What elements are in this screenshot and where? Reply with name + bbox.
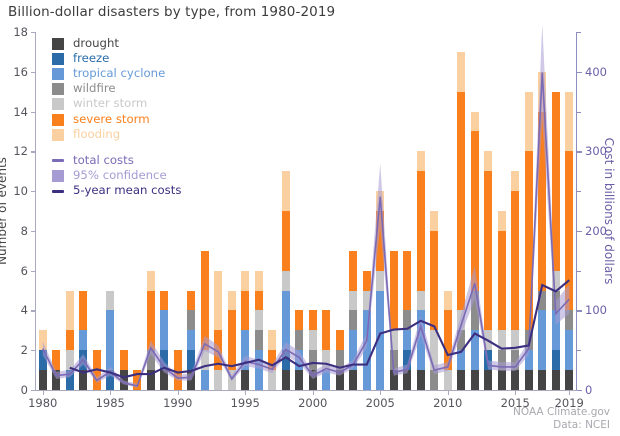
legend-item-5-year-mean-costs[interactable]: 5-year mean costs [52, 184, 181, 199]
legend-swatch-icon [52, 53, 64, 65]
x-tick-label: 2010 [433, 396, 462, 410]
y-tick-label-right: 0 [585, 383, 592, 397]
y-tick-label-left: 0 [21, 383, 28, 397]
x-tick-label: 1985 [96, 396, 125, 410]
x-axis-line [36, 390, 577, 391]
page-title: Billion-dollar disasters by type, from 1… [8, 4, 335, 20]
x-tick [43, 390, 44, 395]
legend-spacer [52, 142, 181, 153]
legend-label: severe storm [73, 114, 150, 126]
y-axis-left-title: Number of events [0, 157, 9, 265]
y-tick-left [31, 191, 36, 192]
legend-swatch-icon [52, 83, 64, 95]
legend-item-flooding[interactable]: flooding [52, 127, 181, 142]
legend-swatch-icon [52, 129, 64, 141]
y-tick-left [31, 72, 36, 73]
y-tick-label-right: 100 [585, 303, 607, 317]
y-tick-right-minor [577, 350, 581, 351]
attribution: NOAA Climate.gov Data: NCEI [513, 406, 610, 432]
legend-label: winter storm [73, 98, 147, 110]
x-tick-label: 2005 [366, 396, 395, 410]
legend-swatch-icon [52, 38, 64, 50]
y-tick-right-minor [577, 271, 581, 272]
x-tick-label: 1980 [28, 396, 57, 410]
legend-swatch-icon [52, 114, 64, 126]
y-tick-label-left: 16 [13, 65, 28, 79]
x-tick [313, 390, 314, 395]
y-tick-left [31, 271, 36, 272]
y-tick-right-minor [577, 112, 581, 113]
y-tick-right [577, 231, 582, 232]
y-tick-label-left: 14 [13, 105, 28, 119]
chart-legend: droughtfreezetropical cyclonewildfirewin… [52, 36, 181, 199]
legend-swatch-icon [52, 98, 64, 110]
legend-item-drought[interactable]: drought [52, 36, 181, 51]
legend-label: 5-year mean costs [73, 185, 181, 197]
x-tick [380, 390, 381, 395]
legend-item-tropical-cyclone[interactable]: tropical cyclone [52, 66, 181, 81]
y-tick-right-minor [577, 32, 581, 33]
y-tick-left [31, 112, 36, 113]
x-tick [178, 390, 179, 395]
y-tick-left [31, 32, 36, 33]
y-axis-right-line [576, 32, 577, 390]
y-tick-label-left: 2 [21, 343, 28, 357]
legend-label: 95% confidence [73, 170, 167, 182]
legend-item-total-costs[interactable]: total costs [52, 153, 181, 168]
legend-label: freeze [73, 53, 109, 65]
y-tick-right [577, 390, 582, 391]
y-tick-left [31, 231, 36, 232]
y-tick-right-minor [577, 191, 581, 192]
legend-label: flooding [73, 129, 120, 141]
y-tick-left [31, 390, 36, 391]
y-tick-label-left: 12 [13, 144, 28, 158]
legend-item-95-confidence[interactable]: 95% confidence [52, 169, 181, 184]
y-tick-right [577, 151, 582, 152]
x-tick [448, 390, 449, 395]
y-tick-label-left: 4 [21, 303, 28, 317]
y-tick-label-left: 8 [21, 224, 28, 238]
legend-item-severe-storm[interactable]: severe storm [52, 112, 181, 127]
y-tick-left [31, 310, 36, 311]
legend-label: wildfire [73, 83, 116, 95]
legend-label: total costs [73, 155, 134, 167]
y-tick-label-left: 18 [13, 25, 28, 39]
x-tick-label: 1995 [231, 396, 260, 410]
y-tick-right [577, 310, 582, 311]
y-tick-label-left: 10 [13, 184, 28, 198]
attribution-data: Data: NCEI [513, 419, 610, 432]
legend-band-swatch-icon [52, 170, 64, 182]
legend-label: drought [73, 38, 119, 50]
x-tick [515, 390, 516, 395]
x-tick-label: 2000 [298, 396, 327, 410]
legend-line-swatch-icon [52, 159, 64, 162]
y-tick-right [577, 72, 582, 73]
x-tick [245, 390, 246, 395]
legend-label: tropical cyclone [73, 68, 165, 80]
y-tick-label-left: 6 [21, 264, 28, 278]
x-tick-label: 1990 [163, 396, 192, 410]
legend-item-wildfire[interactable]: wildfire [52, 82, 181, 97]
attribution-source: NOAA Climate.gov [513, 406, 610, 419]
y-tick-left [31, 151, 36, 152]
y-tick-label-right: 400 [585, 65, 607, 79]
legend-item-freeze[interactable]: freeze [52, 51, 181, 66]
y-axis-right-title: Cost in billions of dollars [602, 138, 616, 285]
legend-line-swatch-icon [52, 190, 64, 193]
x-tick [110, 390, 111, 395]
y-tick-left [31, 350, 36, 351]
legend-swatch-icon [52, 68, 64, 80]
legend-item-winter-storm[interactable]: winter storm [52, 97, 181, 112]
x-tick [569, 390, 570, 395]
